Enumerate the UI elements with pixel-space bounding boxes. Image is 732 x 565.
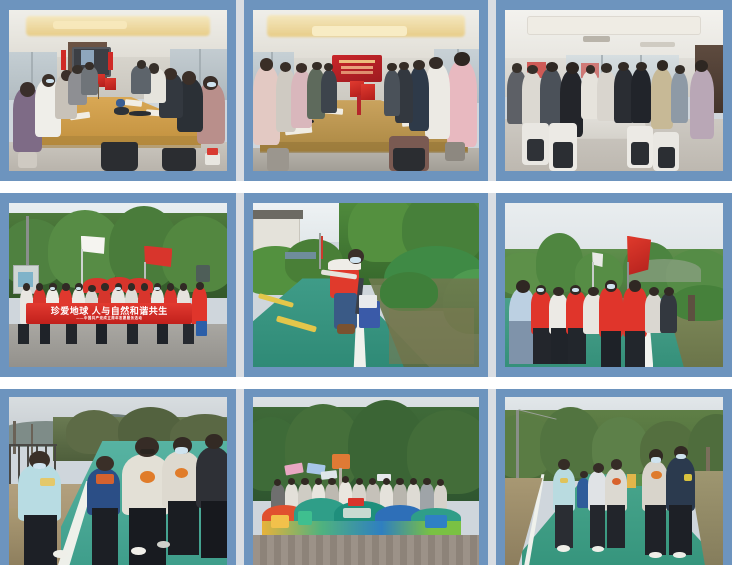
banner-text: 珍爱地球 人与自然和谐共生 <box>51 307 168 316</box>
photo-cell-5[interactable] <box>244 193 488 377</box>
grid-column-gap <box>236 193 244 377</box>
photo-cell-2[interactable] <box>244 0 488 181</box>
grid-column-gap <box>488 193 496 377</box>
grid-row-gap <box>0 377 732 389</box>
grid-column-gap <box>488 389 496 565</box>
photo-grid: 珍爱地球 人与自然和谐共生 ——中国共产党成立周年志愿服务活动 <box>0 0 732 565</box>
grid-column-gap <box>236 389 244 565</box>
grid-column-gap <box>488 0 496 181</box>
photo-image-5 <box>253 203 479 367</box>
grid-column-gap <box>236 0 244 181</box>
photo-image-1 <box>9 10 227 171</box>
photo-cell-4[interactable]: 珍爱地球 人与自然和谐共生 ——中国共产党成立周年志愿服务活动 <box>0 193 236 377</box>
photo-cell-9[interactable] <box>496 389 732 565</box>
banner: 珍爱地球 人与自然和谐共生 ——中国共产党成立周年志愿服务活动 <box>26 303 192 324</box>
photo-image-3 <box>505 10 723 171</box>
photo-cell-3[interactable] <box>496 0 732 181</box>
photo-image-7 <box>9 397 227 565</box>
photo-image-4: 珍爱地球 人与自然和谐共生 ——中国共产党成立周年志愿服务活动 <box>9 203 227 367</box>
photo-cell-8[interactable] <box>244 389 488 565</box>
photo-cell-7[interactable] <box>0 389 236 565</box>
photo-image-2 <box>253 10 479 171</box>
banner-subtext: ——中国共产党成立周年志愿服务活动 <box>51 317 168 320</box>
grid-row-gap <box>0 181 732 193</box>
photo-image-8 <box>253 397 479 565</box>
photo-cell-6[interactable] <box>496 193 732 377</box>
photo-cell-1[interactable] <box>0 0 236 181</box>
photo-image-6 <box>505 203 723 367</box>
photo-image-9 <box>505 397 723 565</box>
